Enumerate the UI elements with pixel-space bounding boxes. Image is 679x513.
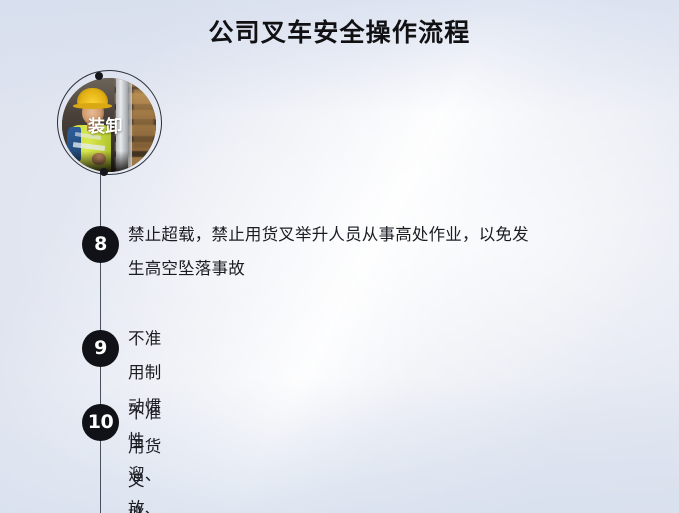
slide-canvas: 公司叉车安全操作流程 装卸 8 禁止超载，禁止用货叉举升人员从事高处作业 xyxy=(0,0,679,513)
step-number-badge: 10 xyxy=(82,404,119,441)
hero-connector-dot-bottom xyxy=(100,168,108,176)
step-text: 禁止超载，禁止用货叉举升人员从事高处作业，以免发 生高空坠落事故 xyxy=(128,218,598,286)
step-number-badge: 8 xyxy=(82,226,119,263)
step-text: 不准用货叉挑、翻、栈板的方法卸货 xyxy=(128,396,161,513)
hero-connector-dot-top xyxy=(95,72,103,80)
step-number-badge: 9 xyxy=(82,330,119,367)
page-title: 公司叉车安全操作流程 xyxy=(0,19,679,48)
hero-circle: 装卸 xyxy=(55,68,165,178)
hero-label: 装卸 xyxy=(55,112,165,137)
